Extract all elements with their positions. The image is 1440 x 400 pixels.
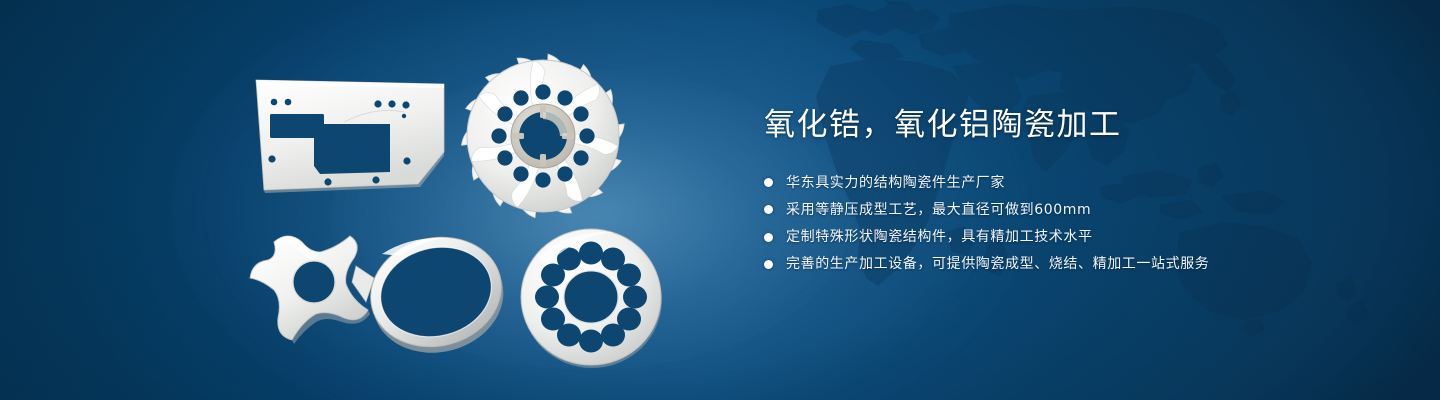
feature-text: 采用等静压成型工艺，最大直径可做到600mm bbox=[786, 201, 1091, 219]
feature-text: 完善的生产加工设备，可提供陶瓷成型、烧结、精加工一站式服务 bbox=[786, 255, 1209, 273]
ceramic-disc bbox=[518, 224, 666, 370]
bullet-dot-icon bbox=[764, 178, 773, 187]
banner-copy: 氧化锆，氧化铝陶瓷加工 华东具实力的结构陶瓷件生产厂家 采用等静压成型工艺，最大… bbox=[764, 108, 1364, 282]
promo-banner: 氧化锆，氧化铝陶瓷加工 华东具实力的结构陶瓷件生产厂家 采用等静压成型工艺，最大… bbox=[0, 0, 1440, 400]
bullet-dot-icon bbox=[764, 205, 773, 214]
page-title: 氧化锆，氧化铝陶瓷加工 bbox=[764, 108, 1364, 144]
list-item: 华东具实力的结构陶瓷件生产厂家 bbox=[764, 174, 1364, 192]
list-item: 采用等静压成型工艺，最大直径可做到600mm bbox=[764, 201, 1364, 219]
ceramic-ring bbox=[352, 226, 518, 360]
feature-list: 华东具实力的结构陶瓷件生产厂家 采用等静压成型工艺，最大直径可做到600mm 定… bbox=[764, 174, 1364, 274]
list-item: 完善的生产加工设备，可提供陶瓷成型、烧结、精加工一站式服务 bbox=[764, 255, 1364, 273]
feature-text: 华东具实力的结构陶瓷件生产厂家 bbox=[786, 174, 1005, 192]
ceramic-plate bbox=[252, 78, 448, 198]
ceramic-impeller bbox=[448, 48, 638, 230]
bullet-dot-icon bbox=[764, 260, 773, 269]
bullet-dot-icon bbox=[764, 233, 773, 242]
list-item: 定制特殊形状陶瓷结构件，具有精加工技术水平 bbox=[764, 228, 1364, 246]
feature-text: 定制特殊形状陶瓷结构件，具有精加工技术水平 bbox=[786, 228, 1093, 246]
